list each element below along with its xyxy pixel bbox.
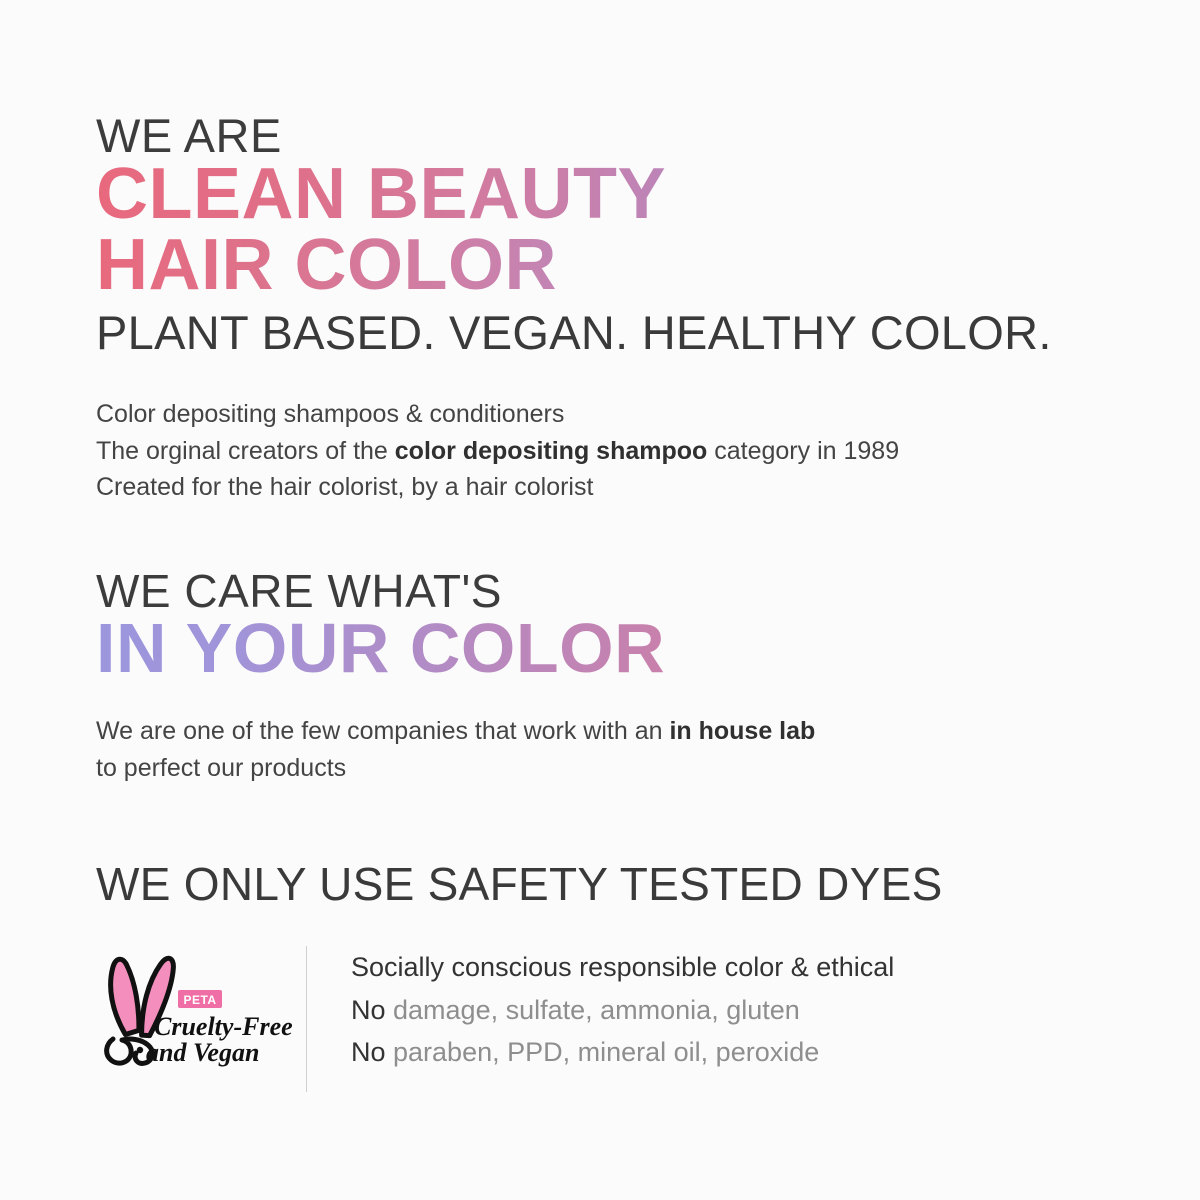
- originators-prefix: The orginal creators of the: [96, 437, 395, 465]
- section-in-your-color: WE CARE WHAT'S IN YOUR COLOR We are one …: [96, 568, 1116, 786]
- peta-label: PETA: [183, 993, 216, 1007]
- claim-text: damage, sulfate, ammonia, gluten: [386, 995, 800, 1025]
- badge-line-one: Cruelty-Free: [154, 1012, 292, 1041]
- badge-line-two: and Vegan: [146, 1038, 259, 1067]
- in-house-lab-bold: in house lab: [669, 717, 815, 745]
- paragraph-line-shampoos: Color depositing shampoos & conditioners: [96, 396, 1116, 433]
- bunny-ears-icon: PETA Cruelty-Free and Vegan: [96, 946, 292, 1074]
- originators-suffix: category in 1989: [707, 437, 899, 465]
- claim-item: No damage, sulfate, ammonia, gluten: [351, 989, 1116, 1032]
- claims-row: PETA Cruelty-Free and Vegan Socially con…: [96, 944, 1116, 1092]
- section-one-paragraph: Color depositing shampoos & conditioners…: [96, 396, 1116, 506]
- originators-bold: color depositing shampoo: [395, 437, 708, 465]
- paragraph-line-perfect-products: to perfect our products: [96, 750, 1116, 787]
- claim-text: Socially conscious responsible color & e…: [351, 952, 894, 982]
- poster-content: WE ARE CLEAN BEAUTY HAIR COLOR PLANT BAS…: [96, 112, 1116, 1092]
- headline-in-your-color: IN YOUR COLOR: [96, 614, 1116, 683]
- claims-list: Socially conscious responsible color & e…: [307, 944, 1116, 1074]
- headline-hair-color: HAIR COLOR: [96, 230, 1116, 301]
- section-two-eyebrow: WE CARE WHAT'S: [96, 568, 1116, 614]
- claim-item: Socially conscious responsible color & e…: [351, 946, 1116, 989]
- tagline-plant-based: PLANT BASED. VEGAN. HEALTHY COLOR.: [96, 308, 1116, 359]
- paragraph-line-originators: The orginal creators of the color deposi…: [96, 433, 1116, 470]
- section-three-title: WE ONLY USE SAFETY TESTED DYES: [96, 861, 1116, 907]
- headline-clean-beauty: CLEAN BEAUTY: [96, 159, 1116, 230]
- section-two-paragraph: We are one of the few companies that wor…: [96, 713, 1116, 786]
- paragraph-line-in-house-lab: We are one of the few companies that wor…: [96, 713, 1116, 750]
- claim-item: No paraben, PPD, mineral oil, peroxide: [351, 1031, 1116, 1074]
- in-house-lab-prefix: We are one of the few companies that wor…: [96, 717, 669, 745]
- section-one-eyebrow: WE ARE: [96, 112, 1116, 159]
- promo-poster: WE ARE CLEAN BEAUTY HAIR COLOR PLANT BAS…: [0, 0, 1200, 1200]
- peta-cruelty-free-badge: PETA Cruelty-Free and Vegan: [96, 944, 292, 1074]
- paragraph-line-colorist: Created for the hair colorist, by a hair…: [96, 469, 1116, 506]
- claim-lead: No: [351, 1037, 386, 1067]
- claim-text: paraben, PPD, mineral oil, peroxide: [386, 1037, 820, 1067]
- section-clean-beauty: WE ARE CLEAN BEAUTY HAIR COLOR PLANT BAS…: [96, 112, 1116, 506]
- claim-lead: No: [351, 995, 386, 1025]
- section-safety-tested-dyes: WE ONLY USE SAFETY TESTED DYES P: [96, 861, 1116, 1092]
